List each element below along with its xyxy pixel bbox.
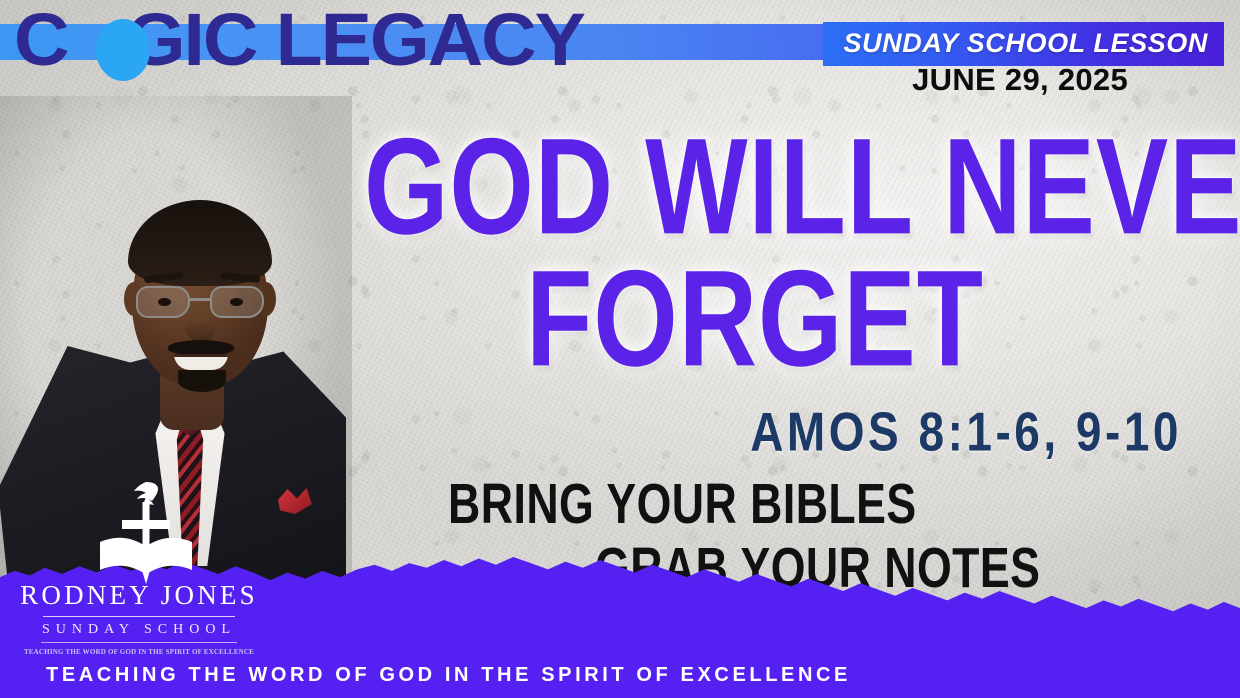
- wordmark-prefix: C: [14, 0, 68, 81]
- flyer-canvas: CGIC LEGACY SUNDAY SCHOOL LESSON JUNE 29…: [0, 0, 1240, 698]
- rodney-jones-logo-lockup: RODNEY JONES SUNDAY SCHOOL TEACHING THE …: [8, 581, 270, 656]
- portrait-hair: [128, 200, 272, 286]
- portrait-eyeglasses-icon: [134, 286, 268, 320]
- sunday-school-lesson-badge: SUNDAY SCHOOL LESSON: [823, 22, 1224, 66]
- cogic-legacy-wordmark: CGIC LEGACY: [14, 3, 562, 77]
- portrait-eye-right: [230, 298, 243, 306]
- portrait-goatee: [178, 370, 226, 392]
- scripture-reference: AMOS 8:1-6, 9-10: [750, 400, 1182, 464]
- badge-label: SUNDAY SCHOOL LESSON: [843, 28, 1208, 59]
- headline-block: GOD WILL NEVER FORGET: [330, 122, 1180, 366]
- headline-line-2: FORGET: [364, 254, 1146, 384]
- portrait-mustache: [168, 340, 234, 355]
- banner-tagline: TEACHING THE WORD OF GOD IN THE SPIRIT O…: [46, 664, 851, 687]
- logo-name: RODNEY JONES: [8, 581, 270, 611]
- logo-tagline: TEACHING THE WORD OF GOD IN THE SPIRIT O…: [8, 648, 270, 656]
- logo-divider-top: [43, 616, 235, 617]
- portrait-eye-left: [158, 298, 171, 306]
- cta-line-1: BRING YOUR BIBLES: [448, 474, 1001, 534]
- dove-cross-book-icon: [92, 478, 200, 588]
- portrait-smile: [174, 354, 228, 370]
- headline-line-1: GOD WILL NEVER: [364, 122, 1146, 252]
- logo-circle-icon: [96, 19, 150, 81]
- wordmark-suffix: GIC LEGACY: [126, 0, 584, 81]
- eyeglass-bridge: [190, 298, 212, 301]
- lesson-date: JUNE 29, 2025: [912, 62, 1128, 98]
- logo-divider-bottom: [41, 642, 237, 643]
- logo-subtitle: SUNDAY SCHOOL: [8, 622, 270, 638]
